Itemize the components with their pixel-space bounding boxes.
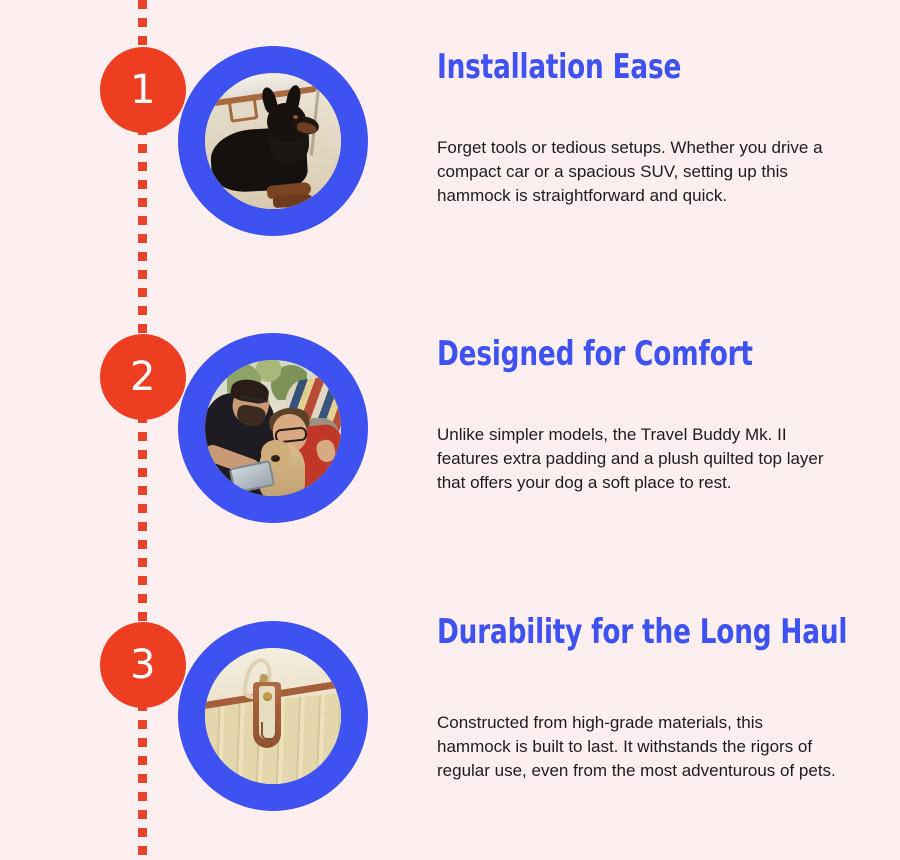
feature-section-2: 2 [0,317,900,547]
feature-heading-3: Durability for the Long Haul [437,605,798,649]
feature-heading-2: Designed for Comfort [437,317,798,371]
photo-1-scene [205,73,341,209]
feature-text-column-3: Durability for the Long Haul Constructed… [437,605,857,783]
feature-photo-3 [205,648,341,784]
feature-text-column-1: Installation Ease Forget tools or tediou… [437,30,857,208]
feature-photo-1 [205,73,341,209]
step-number-label-1: 1 [130,70,156,110]
feature-section-3: 3 Durability for the Long Haul Construct… [0,605,900,835]
photo-3-scene [205,648,341,784]
strap-stitching-shape [261,722,277,740]
feature-section-1: 1 Ins [0,30,900,260]
photo-ring-2 [178,333,368,523]
brass-rivet-shape [263,692,272,701]
feature-body-3: Constructed from high-grade materials, t… [437,649,837,783]
hammock-buckle-shape [227,95,258,123]
photo-ring-3 [178,621,368,811]
feature-text-column-2: Designed for Comfort Unlike simpler mode… [437,317,857,495]
photo-ring-1 [178,46,368,236]
step-number-badge-1: 1 [100,47,186,133]
dog-second-paw-shape [273,194,314,208]
dog-eye-shape [293,115,298,119]
step-number-label-3: 3 [130,645,156,685]
feature-photo-2 [205,360,341,496]
step-number-label-2: 2 [130,357,156,397]
photo-2-scene [205,360,341,496]
feature-heading-1: Installation Ease [437,30,798,84]
feature-body-1: Forget tools or tedious setups. Whether … [437,84,837,208]
step-number-badge-3: 3 [100,622,186,708]
feature-body-2: Unlike simpler models, the Travel Buddy … [437,371,837,495]
step-number-badge-2: 2 [100,334,186,420]
small-dog-nose-shape [271,455,280,462]
